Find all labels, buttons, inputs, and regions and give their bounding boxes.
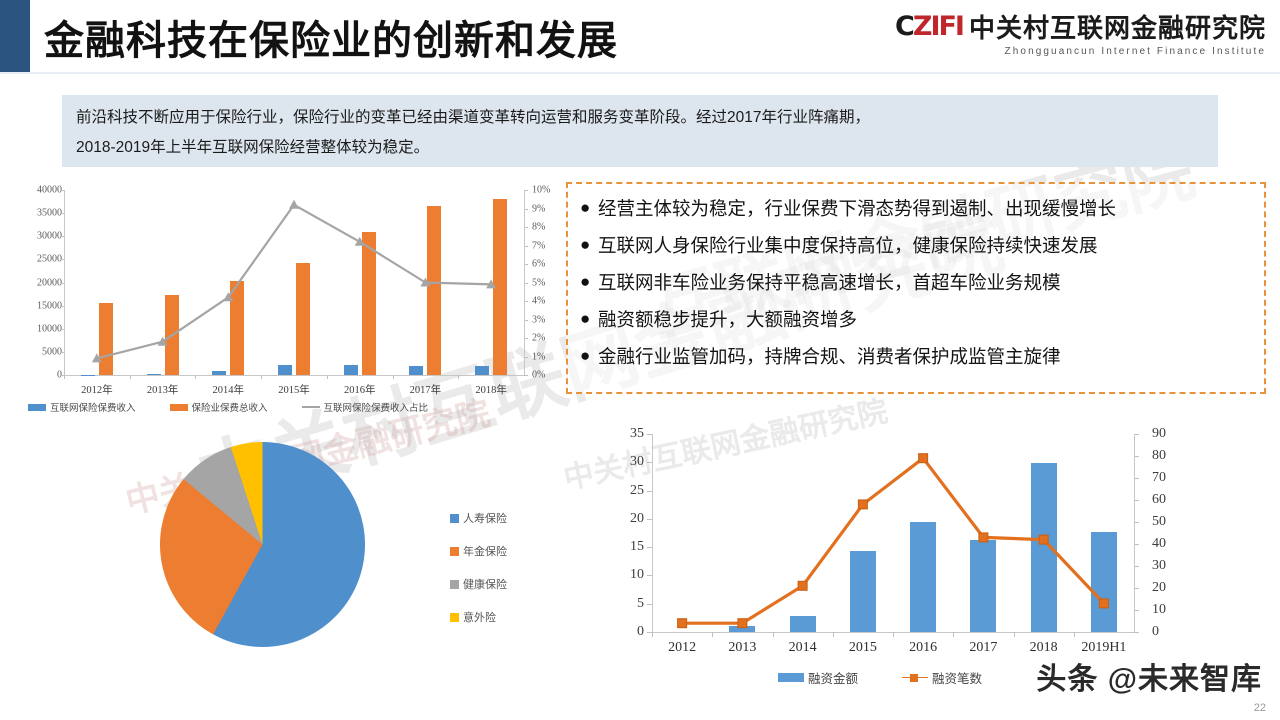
data-point-marker — [798, 581, 807, 590]
data-point-marker — [858, 500, 867, 509]
key-point-item: ●经营主体较为稳定，行业保费下滑态势得到遏制、出现缓慢增长 — [580, 192, 1254, 225]
legend-marker-icon — [910, 674, 918, 682]
chart-financing: 0510152025303501020304050607080902012201… — [600, 428, 1200, 688]
key-point-text: 经营主体较为稳定，行业保费下滑态势得到遏制、出现缓慢增长 — [598, 192, 1116, 225]
legend-item: 年金保险 — [450, 543, 507, 559]
legend-swatch — [450, 514, 459, 523]
pie-slices — [160, 442, 365, 647]
chart-legend: 互联网保险保费收入保险业保费总收入互联网保险保费收入占比 — [28, 400, 428, 414]
data-point-marker — [1099, 599, 1108, 608]
legend-swatch — [28, 404, 46, 411]
key-point-text: 金融行业监管加码，持牌合规、消费者保护成监管主旋律 — [598, 340, 1061, 373]
legend-item: 融资金额 — [778, 668, 858, 687]
pie-legend: 人寿保险年金保险健康保险意外险 — [450, 510, 507, 642]
legend-label: 融资笔数 — [932, 668, 982, 687]
slide: 中关村互联网金融研究院 互联网金融研究院 中关村互联网金融研究院 中关村互联网金… — [0, 0, 1280, 720]
footer-watermark: 头条 @未来智库 — [1036, 654, 1262, 698]
key-point-item: ●融资额稳步提升，大额融资增多 — [580, 303, 1254, 336]
legend-label: 保险业保费总收入 — [192, 400, 268, 414]
chart-insurance-type-share: 人寿保险年金保险健康保险意外险 — [140, 432, 560, 657]
legend-item: 意外险 — [450, 609, 507, 625]
legend-label: 互联网保险保费收入占比 — [324, 400, 429, 414]
legend-swatch — [450, 547, 459, 556]
legend-swatch — [778, 673, 804, 682]
key-point-item: ●互联网人身保险行业集中度保持高位，健康保险持续快速发展 — [580, 229, 1254, 262]
logo-title-cn: 中关村互联网金融研究院 — [969, 8, 1266, 45]
institute-logo: CZIFI 中关村互联网金融研究院 Zhongguancun Internet … — [895, 8, 1266, 57]
logo-mark-icon: CZIFI — [895, 11, 963, 42]
key-point-text: 互联网非车险业务保持平稳高速增长，首超车险业务规模 — [598, 266, 1061, 299]
series-line — [8, 186, 560, 418]
bullet-dot-icon: ● — [580, 192, 598, 224]
logo-title-en: Zhongguancun Internet Finance Institute — [895, 46, 1266, 57]
legend-item: 保险业保费总收入 — [170, 400, 268, 414]
data-point-marker — [1039, 535, 1048, 544]
bullet-dot-icon: ● — [580, 266, 598, 298]
legend-swatch — [450, 580, 459, 589]
intro-line-1: 前沿科技不断应用于保险行业，保险行业的变革已经由渠道变革转向运营和服务变革阶段。… — [62, 95, 1218, 132]
bullet-dot-icon: ● — [580, 340, 598, 372]
key-points-box: ●经营主体较为稳定，行业保费下滑态势得到遏制、出现缓慢增长●互联网人身保险行业集… — [566, 182, 1266, 394]
intro-line-2: 2018-2019年上半年互联网保险经营整体较为稳定。 — [62, 132, 1218, 162]
legend-swatch — [170, 404, 188, 411]
legend-item: 融资笔数 — [902, 668, 982, 687]
legend-label: 人寿保险 — [463, 510, 507, 526]
legend-label: 健康保险 — [463, 576, 507, 592]
data-point-marker — [919, 454, 928, 463]
legend-label: 融资金额 — [808, 668, 858, 687]
header-divider — [0, 72, 1280, 74]
legend-swatch — [902, 673, 928, 682]
intro-panel: 前沿科技不断应用于保险行业，保险行业的变革已经由渠道变革转向运营和服务变革阶段。… — [62, 95, 1218, 167]
bullet-dot-icon: ● — [580, 229, 598, 261]
data-point-marker — [355, 237, 365, 246]
page-number: 22 — [1254, 702, 1266, 714]
header-accent-bar — [0, 0, 30, 72]
legend-swatch — [450, 613, 459, 622]
data-point-marker — [738, 619, 747, 628]
bullet-dot-icon: ● — [580, 303, 598, 335]
legend-item: 健康保险 — [450, 576, 507, 592]
key-point-text: 互联网人身保险行业集中度保持高位，健康保险持续快速发展 — [598, 229, 1098, 262]
legend-swatch — [302, 406, 320, 408]
legend-label: 意外险 — [463, 609, 496, 625]
page-title: 金融科技在保险业的创新和发展 — [44, 8, 618, 66]
legend-label: 互联网保险保费收入 — [50, 400, 136, 414]
legend-item: 互联网保险保费收入 — [28, 400, 136, 414]
data-point-marker — [979, 533, 988, 542]
key-point-item: ●金融行业监管加码，持牌合规、消费者保护成监管主旋律 — [580, 340, 1254, 373]
key-point-text: 融资额稳步提升，大额融资增多 — [598, 303, 857, 336]
legend-label: 年金保险 — [463, 543, 507, 559]
key-point-item: ●互联网非车险业务保持平稳高速增长，首超车险业务规模 — [580, 266, 1254, 299]
chart-legend: 融资金额融资笔数 — [778, 668, 982, 687]
legend-item: 人寿保险 — [450, 510, 507, 526]
data-point-marker — [289, 200, 299, 209]
legend-item: 互联网保险保费收入占比 — [302, 400, 429, 414]
data-point-marker — [678, 619, 687, 628]
chart-internet-insurance-premium: 0500010000150002000025000300003500040000… — [8, 186, 560, 418]
series-line — [600, 428, 1200, 688]
